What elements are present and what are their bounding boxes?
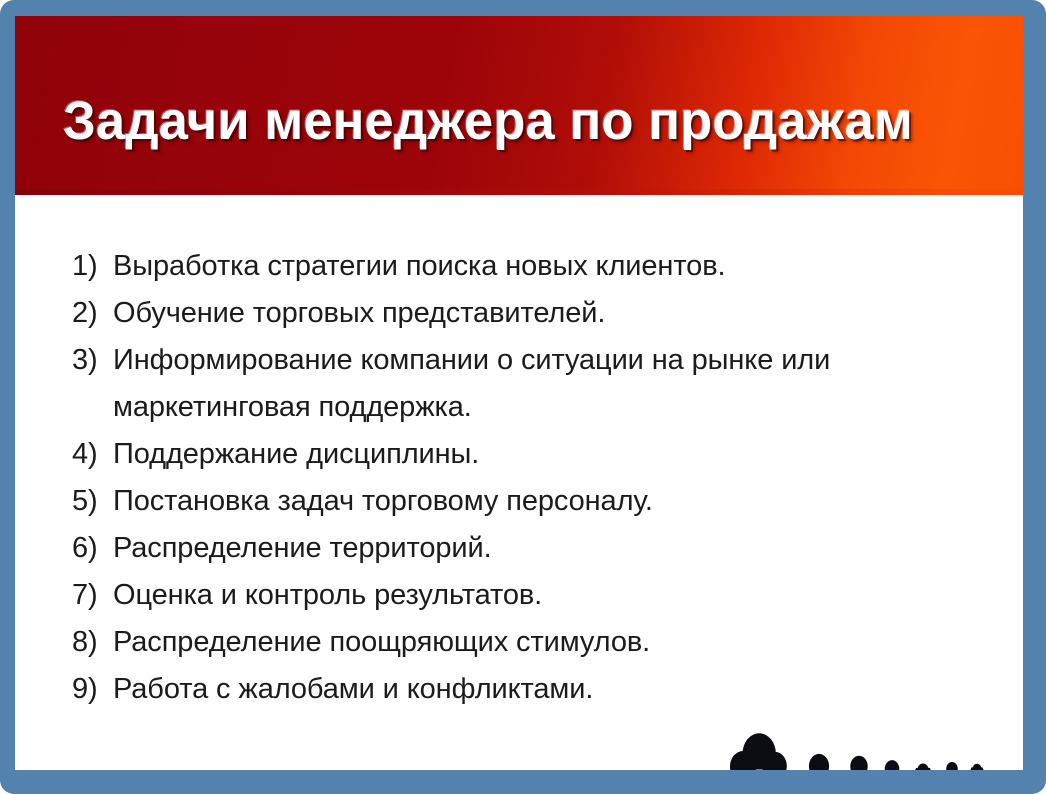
list-item: 5) Постановка задач торговому персоналу. xyxy=(72,478,902,525)
list-item-label: Распределение поощряющих стимулов. xyxy=(113,619,902,666)
list-item-label: Выработка стратегии поиска новых клиенто… xyxy=(113,243,902,290)
slide-page: Задачи менеджера по продажам 1) Выработк… xyxy=(15,16,1023,770)
list-item: 1) Выработка стратегии поиска новых клие… xyxy=(72,243,902,290)
list-item-label: Обучение торговых представителей. xyxy=(113,290,902,337)
list-item-number: 7) xyxy=(72,572,113,619)
list-item: 3) Информирование компании о ситуации на… xyxy=(72,337,902,431)
list-item-label: Постановка задач торговому персоналу. xyxy=(113,478,902,525)
list-item: 7) Оценка и контроль результатов. xyxy=(72,572,902,619)
list-item: 9) Работа с жалобами и конфликтами. xyxy=(72,666,902,713)
list-item: 4) Поддержание дисциплины. xyxy=(72,431,902,478)
task-list: 1) Выработка стратегии поиска новых клие… xyxy=(72,243,902,713)
list-item: 2) Обучение торговых представителей. xyxy=(72,290,902,337)
list-item: 6) Распределение территорий. xyxy=(72,525,902,572)
list-item-line-1: Информирование компании о ситуации на ры… xyxy=(113,344,830,376)
slide: Задачи менеджера по продажам 1) Выработк… xyxy=(0,0,1046,794)
slide-header-band: Задачи менеджера по продажам xyxy=(15,16,1023,195)
list-item-label: Работа с жалобами и конфликтами. xyxy=(113,666,902,713)
list-item-label: Оценка и контроль результатов. xyxy=(113,572,902,619)
list-item-number: 8) xyxy=(72,619,113,666)
list-item-line-2: маркетинговая поддержка. xyxy=(113,384,902,431)
list-item-number: 3) xyxy=(72,337,113,384)
list-item-number: 2) xyxy=(72,290,113,337)
list-item-number: 9) xyxy=(72,666,113,713)
list-item: 8) Распределение поощряющих стимулов. xyxy=(72,619,902,666)
list-item-number: 5) xyxy=(72,478,113,525)
slide-body: 1) Выработка стратегии поиска новых клие… xyxy=(15,195,1023,770)
list-item-number: 4) xyxy=(72,431,113,478)
list-item-number: 1) xyxy=(72,243,113,290)
list-item-number: 6) xyxy=(72,525,113,572)
list-item-label: Поддержание дисциплины. xyxy=(113,431,902,478)
list-item-label: Информирование компании о ситуации на ры… xyxy=(113,337,902,431)
page-title: Задачи менеджера по продажам xyxy=(63,94,913,148)
list-item-label: Распределение территорий. xyxy=(113,525,902,572)
